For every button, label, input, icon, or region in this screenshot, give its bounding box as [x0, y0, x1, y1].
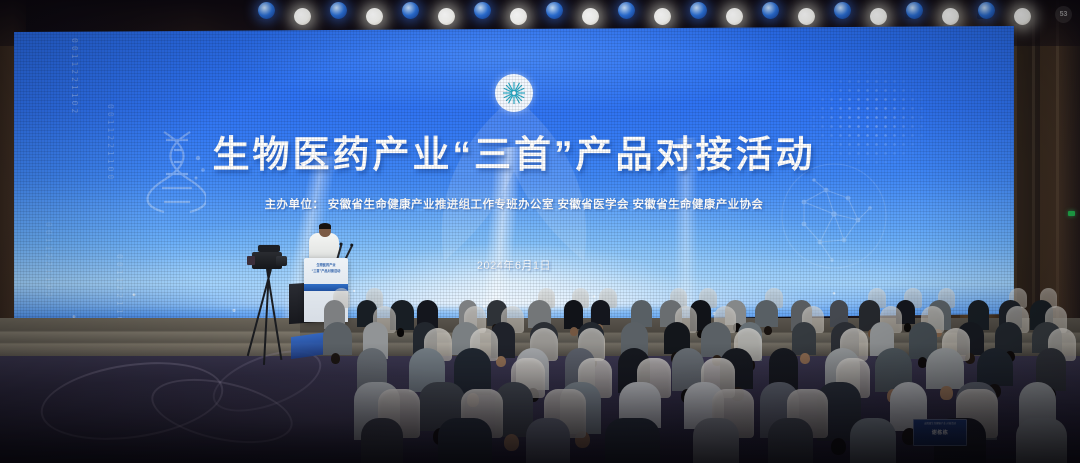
stage-light-icon — [690, 2, 707, 19]
stage-light-icon — [798, 8, 815, 25]
stage-light-icon — [618, 2, 635, 19]
podium-text-line1: 生物医药产业 — [307, 263, 345, 267]
event-logo-icon — [495, 74, 533, 112]
led-backdrop-screen: 0011221102 0011221100 0011221100 0011221… — [14, 26, 1014, 326]
audience-member-body — [361, 418, 403, 463]
stage-light-icon — [870, 8, 887, 25]
name-placard: 安徽省生命健康产业 对接活动 谢栋栋 — [913, 419, 967, 446]
audience-member-head — [940, 386, 952, 400]
podium-text-line2: “三首”产品对接活动 — [307, 269, 345, 273]
audience-member-head — [800, 353, 810, 364]
stage-light-icon — [654, 8, 671, 25]
audience-member-head — [764, 326, 772, 335]
stage-light-icon — [942, 8, 959, 25]
placard-organization: 安徽省生命健康产业 对接活动 — [914, 421, 966, 425]
stage-light-icon — [438, 8, 455, 25]
audience-member-body — [850, 418, 895, 463]
exit-light-icon — [1068, 211, 1075, 216]
audience-member-body — [564, 300, 583, 329]
audience-member-body — [792, 322, 816, 355]
audience-member-body — [1016, 418, 1067, 463]
audience-member-body — [526, 418, 569, 463]
audience-member-head — [504, 434, 519, 451]
stage-light-icon — [834, 2, 851, 19]
audience-member-body — [323, 322, 352, 355]
audience-member-body — [693, 418, 739, 463]
camera-monitor-icon — [247, 256, 255, 265]
corner-watermark: 53 — [1055, 6, 1072, 23]
stage-light-icon — [330, 2, 347, 19]
stage-light-icon — [1014, 8, 1031, 25]
event-organizers: 主办单位： 安徽省生命健康产业推进组工作专班办公室 安徽省医学会 安徽省生命健康… — [14, 196, 1014, 212]
audience-member-head — [831, 438, 846, 455]
stage-light-icon — [366, 8, 383, 25]
stage-light-icon — [762, 2, 779, 19]
event-title: 生物医药产业“三首”产品对接活动 — [14, 124, 1014, 178]
audience-member-body — [768, 418, 813, 463]
stage-light-icon — [294, 8, 311, 25]
presenter-hair — [319, 223, 331, 229]
stage-light-icon — [546, 2, 563, 19]
placard-name: 谢栋栋 — [932, 429, 949, 436]
camera-lens-icon — [276, 256, 287, 266]
audience-member-body — [438, 418, 492, 463]
stage-light-icon — [258, 2, 275, 19]
audience-member-body — [605, 418, 660, 463]
stage-light-icon — [906, 2, 923, 19]
audience-member-body — [977, 348, 1013, 386]
radiating-circle-logo-glyph — [499, 78, 529, 108]
stage-light-icon — [582, 8, 599, 25]
stage-light-icon — [402, 2, 419, 19]
binary-column-1: 0011221102 — [70, 38, 79, 116]
event-date: 2024年6月1日 — [14, 257, 1014, 273]
stage-light-icon — [726, 8, 743, 25]
audience-member-head — [331, 353, 341, 364]
audience-member-body — [926, 348, 964, 389]
audience-member-head — [570, 327, 578, 336]
stage-light-icon — [978, 2, 995, 19]
audience-member-body — [755, 300, 778, 327]
stage-light-icon — [474, 2, 491, 19]
conference-photo-scene: 0011221102 0011221100 0011221100 0011221… — [0, 0, 1080, 463]
camera-hood — [258, 245, 280, 252]
stage-light-icon — [510, 8, 527, 25]
